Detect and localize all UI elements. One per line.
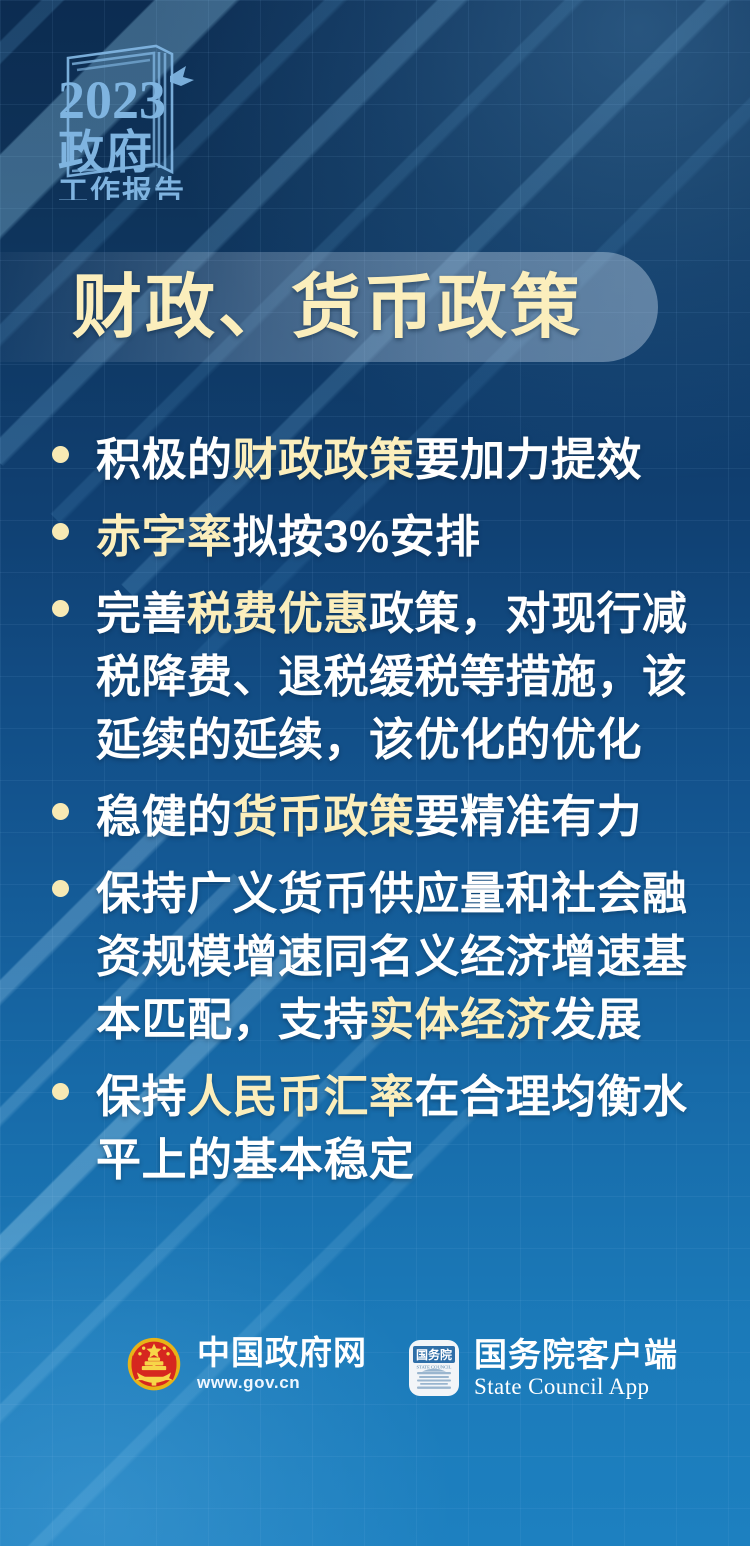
bullet-item: 保持人民币汇率在合理均衡水平上的基本稳定: [40, 1065, 720, 1191]
bullet-item: 积极的财政政策要加力提效: [40, 428, 720, 491]
bullet-item: 完善税费优惠政策，对现行减税降费、退税缓税等措施，该延续的延续，该优化的优化: [40, 582, 720, 771]
bullet-item: 保持广义货币供应量和社会融资规模增速同名义经济增速基本匹配，支持实体经济发展: [40, 862, 720, 1051]
body-phrase: 要精准有力: [415, 791, 643, 842]
state-council-app-icon: 国务院 STATE COUNCIL: [408, 1339, 460, 1397]
highlight-phrase: 实体经济: [369, 994, 551, 1045]
logo-line1: 政府: [58, 126, 154, 178]
bullet-line: 完善税费优惠政策，对现行减: [96, 582, 720, 645]
brand-state-council-app[interactable]: 国务院 STATE COUNCIL 国务院客户端 State Council A…: [408, 1336, 678, 1400]
app-brand-name-en: State Council App: [474, 1373, 678, 1400]
body-phrase: 政策，对现行减: [369, 588, 688, 639]
bullet-item: 稳健的货币政策要精准有力: [40, 785, 720, 848]
bullet-line: 平上的基本稳定: [96, 1128, 720, 1191]
body-phrase: 保持广义货币供应量和社会融: [96, 868, 688, 919]
highlight-phrase: 财政政策: [233, 434, 415, 485]
bullet-line: 资规模增速同名义经济增速基: [96, 925, 720, 988]
body-phrase: 发展: [551, 994, 642, 1045]
bullet-line: 保持人民币汇率在合理均衡水: [96, 1065, 720, 1128]
bullet-line: 保持广义货币供应量和社会融: [96, 862, 720, 925]
poster-root: 2023 政府 工作报告 财政、货币政策 积极的财政政策要加力提效赤字率拟按3%…: [0, 0, 750, 1546]
page-title: 财政、货币政策: [72, 253, 583, 361]
book-icon: 2023 政府 工作报告: [44, 40, 234, 200]
bullet-dot-icon: [52, 1083, 69, 1100]
bullet-dot-icon: [52, 446, 69, 463]
brand-china-gov[interactable]: 中国政府网 www.gov.cn: [124, 1334, 367, 1395]
logo-line2: 工作报告: [58, 176, 186, 200]
body-phrase: 平上的基本稳定: [96, 1134, 415, 1185]
bullet-line: 延续的延续，该优化的优化: [96, 708, 720, 771]
body-phrase: 本匹配，支持: [96, 994, 369, 1045]
gov-brand-name: 中国政府网: [197, 1334, 367, 1371]
bullet-dot-icon: [52, 600, 69, 617]
body-phrase: 要加力提效: [415, 434, 643, 485]
national-emblem-icon: [124, 1335, 184, 1395]
gov-brand-url: www.gov.cn: [197, 1371, 367, 1395]
bullet-item: 赤字率拟按3%安排: [40, 505, 720, 568]
logo-year: 2023: [58, 70, 166, 130]
body-phrase: 税降费、退税缓税等措施，该: [96, 651, 688, 702]
body-phrase: 在合理均衡水: [415, 1071, 688, 1122]
report-logo: 2023 政府 工作报告: [44, 40, 234, 200]
body-phrase: 完善: [96, 588, 187, 639]
footer: 中国政府网 www.gov.cn 国务院 STATE COUNCIL: [0, 1330, 750, 1440]
bullet-line: 稳健的货币政策要精准有力: [96, 785, 720, 848]
bullet-dot-icon: [52, 523, 69, 540]
body-phrase: 保持: [96, 1071, 187, 1122]
app-brand-name: 国务院客户端: [474, 1336, 678, 1373]
highlight-phrase: 人民币汇率: [187, 1071, 415, 1122]
bullet-line: 本匹配，支持实体经济发展: [96, 988, 720, 1051]
highlight-phrase: 货币政策: [233, 791, 415, 842]
body-phrase: 稳健的: [96, 791, 233, 842]
policy-bullet-list: 积极的财政政策要加力提效赤字率拟按3%安排完善税费优惠政策，对现行减税降费、退税…: [40, 428, 720, 1205]
bullet-line: 税降费、退税缓税等措施，该: [96, 645, 720, 708]
bullet-dot-icon: [52, 880, 69, 897]
bullet-line: 积极的财政政策要加力提效: [96, 428, 720, 491]
app-icon-label: 国务院: [416, 1347, 452, 1362]
body-phrase: 拟按3%安排: [233, 511, 481, 562]
body-phrase: 延续的延续，该优化的优化: [96, 714, 642, 765]
body-phrase: 资规模增速同名义经济增速基: [96, 931, 688, 982]
body-phrase: 积极的: [96, 434, 233, 485]
bullet-dot-icon: [52, 803, 69, 820]
highlight-phrase: 赤字率: [96, 511, 233, 562]
bullet-line: 赤字率拟按3%安排: [96, 505, 720, 568]
highlight-phrase: 税费优惠: [187, 588, 369, 639]
